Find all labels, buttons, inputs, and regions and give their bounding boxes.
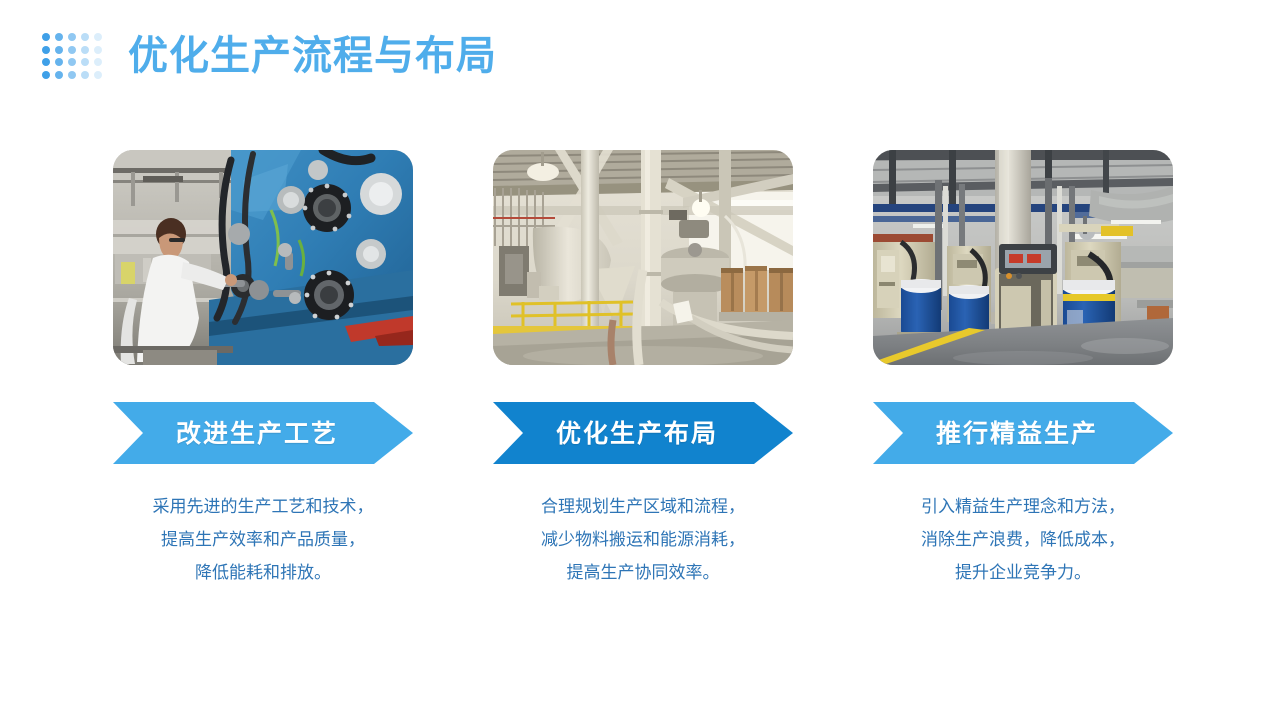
body-line: 合理规划生产区域和流程， [493, 490, 793, 523]
body-line: 消除生产浪费，降低成本， [873, 523, 1173, 556]
body-copy: 合理规划生产区域和流程， 减少物料搬运和能源消耗， 提高生产协同效率。 [493, 490, 793, 589]
body-line: 引入精益生产理念和方法， [873, 490, 1173, 523]
dot-grid-icon [40, 31, 104, 81]
photo-card [113, 150, 413, 365]
body-line: 提高生产效率和产品质量， [113, 523, 413, 556]
photo-plant-silos [493, 150, 793, 365]
banner-label: 推行精益生产 [936, 414, 1098, 450]
photo-factory-technician [113, 150, 413, 365]
content-column: 改进生产工艺 采用先进的生产工艺和技术， 提高生产效率和产品质量， 降低能耗和排… [113, 150, 413, 589]
slide-header: 优化生产流程与布局 [0, 0, 1280, 120]
body-copy: 采用先进的生产工艺和技术， 提高生产效率和产品质量， 降低能耗和排放。 [113, 490, 413, 589]
content-column: 优化生产布局 合理规划生产区域和流程， 减少物料搬运和能源消耗， 提高生产协同效… [493, 150, 793, 589]
banner-chevron[interactable]: 优化生产布局 [493, 402, 793, 464]
body-line: 减少物料搬运和能源消耗， [493, 523, 793, 556]
body-line: 采用先进的生产工艺和技术， [113, 490, 413, 523]
page-title: 优化生产流程与布局 [128, 30, 497, 82]
banner-shape[interactable]: 推行精益生产 [873, 402, 1173, 464]
banner-label: 优化生产布局 [556, 414, 718, 450]
banner-shape[interactable]: 改进生产工艺 [113, 402, 413, 464]
content-columns: 改进生产工艺 采用先进的生产工艺和技术， 提高生产效率和产品质量， 降低能耗和排… [0, 150, 1280, 670]
body-copy: 引入精益生产理念和方法， 消除生产浪费，降低成本， 提升企业竞争力。 [873, 490, 1173, 589]
body-line: 降低能耗和排放。 [113, 556, 413, 589]
banner-label: 改进生产工艺 [176, 414, 338, 450]
body-line: 提高生产协同效率。 [493, 556, 793, 589]
photo-lean-production-line [873, 150, 1173, 365]
content-column: 推行精益生产 引入精益生产理念和方法， 消除生产浪费，降低成本， 提升企业竞争力… [873, 150, 1173, 589]
photo-card [493, 150, 793, 365]
body-line: 提升企业竞争力。 [873, 556, 1173, 589]
banner-chevron[interactable]: 改进生产工艺 [113, 402, 413, 464]
banner-shape[interactable]: 优化生产布局 [493, 402, 793, 464]
photo-card [873, 150, 1173, 365]
banner-chevron[interactable]: 推行精益生产 [873, 402, 1173, 464]
